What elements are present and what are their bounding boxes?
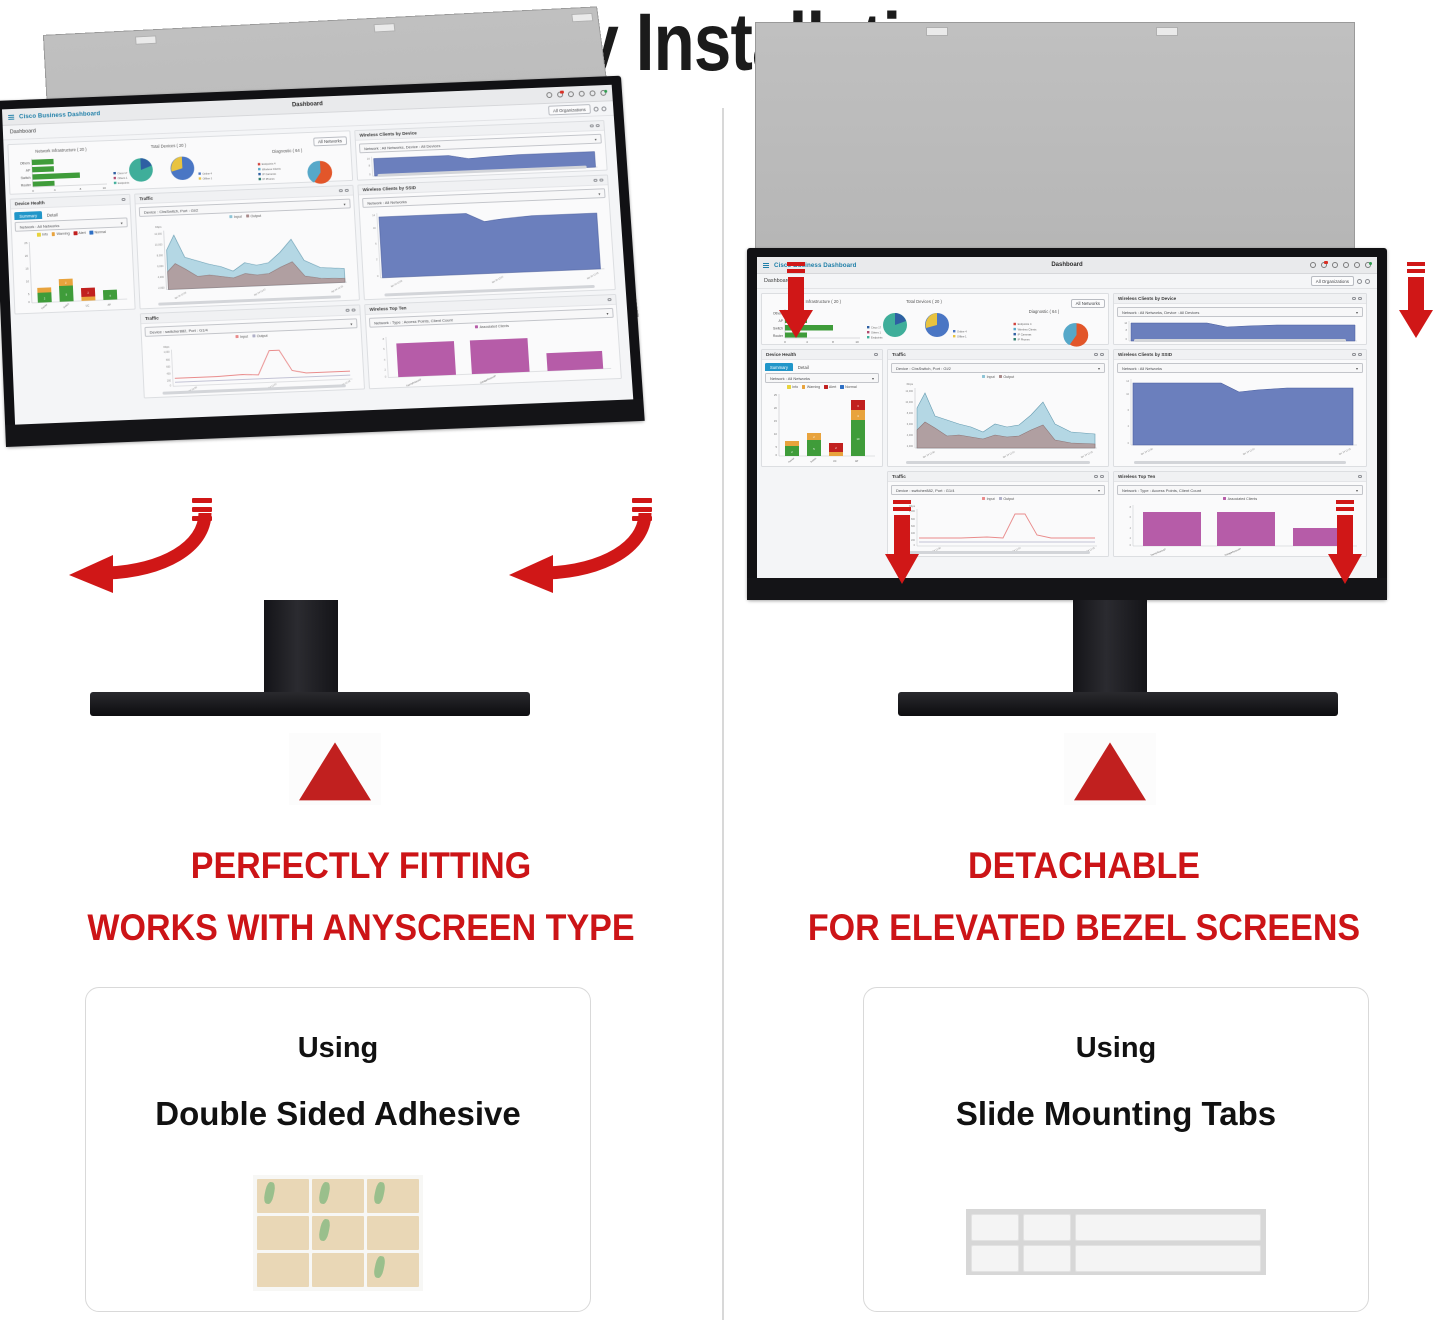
right-panel: Cisco Business Dashboard Dashboard Da (723, 0, 1445, 1320)
svg-text:2: 2 (376, 258, 378, 261)
monitor-right: Cisco Business Dashboard Dashboard Da (747, 248, 1387, 600)
svg-text:IP Cameras: IP Cameras (1018, 333, 1032, 337)
download-icon[interactable] (568, 91, 574, 97)
expand-icon[interactable] (1100, 475, 1104, 479)
svg-text:Online 4: Online 4 (202, 171, 212, 175)
monitor-left: Cisco Business Dashboard Dashboard (0, 76, 645, 447)
svg-text:4: 4 (806, 340, 808, 344)
filter-label: Device : switcher882, Port : G1/4 (150, 327, 208, 334)
svg-text:GarageRoomAP: GarageRoomAP (480, 375, 497, 385)
slide-arrow-bottom-right (1324, 500, 1366, 586)
adhesive-pad (367, 1179, 419, 1213)
network-filter-dropdown[interactable]: All Networks (1071, 299, 1105, 308)
refresh-icon[interactable] (346, 308, 350, 312)
refresh-icon[interactable] (601, 106, 606, 111)
cisco-dashboard: Cisco Business Dashboard Dashboard Da (757, 257, 1377, 578)
refresh-icon[interactable] (594, 179, 598, 183)
right-info-box: Using Slide Mounting Tabs (863, 987, 1369, 1312)
svg-text:0: 0 (369, 173, 371, 176)
svg-text:20: 20 (774, 406, 778, 410)
svg-text:Apr 24 12:00: Apr 24 12:00 (922, 450, 936, 459)
svg-text:Switch: Switch (21, 176, 31, 180)
svg-text:14: 14 (367, 158, 370, 161)
svg-text:IP Phones: IP Phones (263, 177, 276, 181)
expand-icon[interactable] (1358, 353, 1362, 357)
card-traffic: Traffic Device : CbsSwitch, Port : GI/2 … (887, 349, 1109, 467)
monitor-stand-neck (264, 600, 338, 696)
card-traffic: Traffic Device : CbsSwitch, Port : GI/2 … (134, 185, 360, 310)
install-arrow-left-second-dashes (632, 498, 652, 521)
svg-text:0: 0 (170, 384, 172, 387)
card-tools[interactable] (608, 298, 612, 302)
svg-text:10,000: 10,000 (905, 401, 913, 404)
svg-text:Router: Router (788, 457, 796, 464)
expand-icon[interactable] (1100, 353, 1104, 357)
svg-text:0: 0 (377, 275, 379, 278)
horizontal-scrollbar[interactable] (906, 551, 1091, 554)
chevron-down-icon[interactable]: ▾ (1098, 488, 1100, 493)
monitor-stand-neck (1073, 600, 1147, 696)
sheet-notch (571, 13, 593, 22)
card-title: Wireless Top Ten (369, 305, 406, 311)
chat-icon[interactable] (1343, 262, 1349, 268)
card-tools[interactable] (1094, 353, 1104, 357)
expand-icon[interactable] (608, 298, 612, 302)
slide-arrow-top-left (775, 262, 817, 340)
chevron-down-icon[interactable]: ▾ (598, 191, 600, 196)
filter-label: Network : All Networks (770, 376, 810, 381)
card-tools[interactable] (874, 353, 878, 357)
card-tools[interactable] (1352, 297, 1362, 301)
traffic-area-chart: Kbps 12,000 10,000 8,000 6,000 4,000 2,0… (891, 380, 1105, 464)
device-health-legend: Info Warning Alert Normal (765, 385, 879, 389)
user-account-icon[interactable] (1365, 262, 1371, 268)
expand-icon[interactable] (596, 124, 600, 128)
card-title: Wireless Clients by SSID (362, 185, 416, 192)
traffic-area-chart: Kbps 12,000 10,000 8,000 6,000 4,000 2,0… (140, 215, 356, 306)
card-wireless-clients-by-device: Wireless Clients by Device Network : All… (1113, 293, 1367, 345)
svg-text:0: 0 (28, 300, 30, 304)
svg-text:8: 8 (1130, 506, 1132, 509)
direction-marker-card-left (289, 733, 381, 805)
svg-text:IP Phones: IP Phones (1018, 338, 1031, 342)
device-health-stacked-bar-chart: 25 20 15 10 5 0 2 (765, 390, 879, 468)
diagnostic-label: Diagnostic ( 64 ) (983, 309, 1105, 314)
mounting-tab (1023, 1245, 1071, 1272)
card-title: Device Health (766, 352, 796, 357)
cisco-dashboard: Cisco Business Dashboard Dashboard (2, 85, 633, 425)
card-tools[interactable] (590, 124, 600, 128)
svg-text:Apr 24 12:07: Apr 24 12:07 (1002, 450, 1016, 459)
svg-text:6: 6 (1130, 516, 1132, 519)
adhesive-pad (257, 1216, 309, 1250)
device-health-stacked-bar-chart: 25 20 15 10 5 0 2 (15, 234, 131, 315)
svg-text:0: 0 (1128, 442, 1130, 445)
svg-text:4,000: 4,000 (158, 276, 165, 279)
svg-text:0: 0 (775, 453, 777, 457)
card-tools[interactable] (346, 308, 356, 312)
svg-text:25: 25 (24, 241, 28, 245)
device-health-tabs[interactable]: Summary Detail (765, 363, 879, 371)
mounting-tab (971, 1245, 1019, 1272)
traffic-lower-filter-dropdown[interactable]: Device : switcher882, Port : G1/4 ▾ (891, 485, 1105, 495)
svg-text:Offline 1: Offline 1 (957, 334, 967, 338)
slide-arrow-bottom-left (881, 500, 923, 586)
svg-text:Wireless Clients: Wireless Clients (1018, 328, 1038, 332)
svg-text:12,000: 12,000 (905, 390, 913, 393)
org-dropdown[interactable]: All Organizations (1311, 276, 1354, 285)
filter-label: Device : CbsSwitch, Port : GI/2 (896, 366, 951, 371)
chevron-down-icon[interactable]: ▾ (1098, 366, 1100, 371)
hamburger-menu-icon[interactable] (8, 114, 14, 120)
svg-text:Endpoints: Endpoints (871, 335, 883, 339)
svg-text:6: 6 (375, 243, 377, 246)
traffic-lower-line-chart: Kbps 1,000 800 600 400 200 0 (891, 502, 1105, 558)
refresh-icon[interactable] (339, 189, 343, 193)
svg-text:UC: UC (86, 305, 90, 308)
card-wireless-top-ten: Wireless Top Ten Network : Type : Access… (364, 294, 622, 389)
chevron-down-icon[interactable]: ▾ (1356, 488, 1358, 493)
wireless-top-ten-bar-chart: 8 6 4 2 0 FarmyRoomAP GarageRoomAP (370, 325, 618, 392)
svg-text:0: 0 (784, 340, 786, 344)
expand-icon[interactable] (874, 353, 878, 357)
total-devices-pie-charts: Cisco 17 Others 1 Endpoints Online 4 Off… (865, 305, 983, 347)
monitor-bezel-chin (747, 578, 1387, 600)
svg-text:0: 0 (1130, 544, 1132, 547)
help-icon[interactable] (1354, 262, 1360, 268)
svg-text:10: 10 (26, 280, 30, 284)
card-title: Traffic (892, 352, 906, 357)
download-icon[interactable] (1332, 262, 1338, 268)
svg-text:Router: Router (41, 303, 49, 310)
svg-text:Apr 24 12:15: Apr 24 12:15 (331, 285, 345, 294)
right-heading-line-2: FOR ELEVATED BEZEL SCREENS (752, 907, 1416, 949)
svg-text:4: 4 (384, 359, 386, 362)
total-devices-pie-charts: Cisco 17 Others 1 Endpoints Online 4 Off… (110, 147, 228, 193)
svg-text:14: 14 (372, 214, 376, 217)
svg-text:5: 5 (775, 445, 777, 449)
dashboard-grid: Network Infrastructure ( 20 ) Other (761, 293, 1373, 575)
svg-text:Apr 24 12:07: Apr 24 12:07 (253, 288, 267, 297)
network-filter-dropdown[interactable]: All Networks (313, 136, 347, 146)
svg-text:2: 2 (1130, 537, 1132, 540)
sheet-notch (926, 27, 948, 36)
svg-text:Apr 24 12:15: Apr 24 12:15 (1080, 450, 1094, 459)
left-heading-line-2: WORKS WITH ANYSCREEN TYPE (29, 907, 693, 949)
ssid-filter-dropdown[interactable]: Network : All Networks ▾ (1117, 363, 1363, 373)
monitor-stand-base (898, 692, 1338, 716)
card-tools[interactable] (1352, 353, 1362, 357)
svg-text:Apr 24 12:15: Apr 24 12:15 (586, 271, 599, 280)
svg-text:Others 1: Others 1 (871, 330, 882, 334)
svg-text:15: 15 (25, 267, 29, 271)
device-filter-dropdown[interactable]: Network : All Networks, Device : All Dev… (1117, 307, 1363, 317)
svg-text:4: 4 (1130, 527, 1132, 530)
svg-text:10: 10 (1126, 393, 1129, 396)
sheet-notch (374, 23, 396, 32)
card-tools[interactable] (1358, 475, 1362, 479)
right-info-subtitle: Slide Mounting Tabs (864, 1095, 1368, 1133)
filter-label: Network : Type : Access Points, Client C… (1122, 488, 1201, 493)
svg-text:0: 0 (1126, 338, 1128, 341)
adhesive-pad (257, 1179, 309, 1213)
refresh-icon[interactable] (1352, 353, 1356, 357)
svg-text:20: 20 (25, 254, 29, 258)
svg-text:6,000: 6,000 (157, 265, 164, 268)
globe-icon[interactable] (546, 92, 552, 98)
org-selector-group[interactable]: All Organizations (548, 104, 607, 115)
card-title: Wireless Clients by Device (1118, 296, 1176, 301)
svg-text:8: 8 (1126, 329, 1128, 332)
notifications-icon[interactable] (557, 92, 563, 98)
refresh-icon[interactable] (590, 124, 594, 128)
card-title: Device Health (15, 200, 45, 206)
svg-text:FarmyRoomAP: FarmyRoomAP (406, 378, 422, 388)
mounting-tab (1023, 1214, 1071, 1241)
sheet-notch (1156, 27, 1178, 36)
right-heading-line-1: DETACHABLE (752, 845, 1416, 887)
svg-text:8: 8 (369, 165, 371, 168)
svg-text:6: 6 (1128, 409, 1130, 412)
wireless-clients-ssid-area-chart: 14 10 6 2 0 Apr 24 12:00 Apr 24 12:07 Ap… (363, 200, 612, 296)
svg-text:10: 10 (855, 340, 859, 344)
svg-text:Switch: Switch (810, 457, 818, 464)
svg-text:Endpoints 4: Endpoints 4 (1018, 323, 1032, 327)
card-traffic-lower: Traffic Device : switcher882, Port : G1/… (140, 304, 365, 398)
traffic-legend: Input Output (891, 375, 1105, 379)
filter-label: Network : All Networks (20, 223, 60, 230)
help-icon[interactable] (589, 90, 595, 96)
expand-icon[interactable] (345, 189, 349, 193)
notifications-icon[interactable] (1321, 262, 1327, 268)
svg-text:400: 400 (167, 372, 172, 375)
card-device-health: Device Health Summary Detail Network : A… (761, 349, 883, 467)
horizontal-scrollbar[interactable] (1134, 339, 1346, 342)
svg-text:10: 10 (102, 186, 106, 190)
adhesive-pad (367, 1216, 419, 1250)
filter-label: Network : All Networks (1122, 366, 1162, 371)
adhesive-pad (312, 1216, 364, 1250)
svg-text:Others 1: Others 1 (118, 176, 129, 180)
svg-text:4,000: 4,000 (907, 434, 914, 437)
svg-text:Switch: Switch (63, 302, 71, 309)
adhesive-pad (312, 1253, 364, 1287)
svg-text:600: 600 (166, 366, 171, 369)
svg-text:AP: AP (855, 460, 859, 463)
tab-summary[interactable]: Summary (14, 211, 42, 220)
wireless-clients-ssid-area-chart: 14 10 6 2 0 Apr 24 12:00 Apr 24 12:07 Ap… (1117, 375, 1363, 463)
mounting-tab (1075, 1214, 1261, 1241)
svg-text:Wireless Clients: Wireless Clients (262, 167, 282, 172)
card-tools[interactable] (594, 178, 604, 182)
svg-text:4: 4 (54, 188, 56, 192)
svg-text:2: 2 (1128, 425, 1130, 428)
refresh-icon[interactable] (1094, 475, 1098, 479)
left-info-subtitle: Double Sided Adhesive (86, 1095, 590, 1133)
svg-text:10: 10 (373, 227, 377, 230)
tab-row (971, 1245, 1261, 1272)
svg-text:Kbps: Kbps (163, 345, 170, 349)
settings-icon[interactable] (593, 106, 598, 111)
card-title: Traffic (139, 196, 153, 201)
traffic-filter-dropdown[interactable]: Device : CbsSwitch, Port : GI/2 ▾ (891, 363, 1105, 373)
expand-icon[interactable] (1358, 297, 1362, 301)
network-infrastructure-bar-chart: Others AP Switch Router 0 4 8 10 (12, 152, 113, 197)
svg-text:14: 14 (1124, 322, 1127, 325)
hamburger-menu-icon[interactable] (763, 262, 769, 268)
topbar-icon-group (1310, 262, 1371, 268)
left-heading-line-1: PERFECTLY FITTING (29, 845, 693, 887)
svg-text:Apr 24 12:00: Apr 24 12:00 (390, 279, 404, 288)
left-info-box: Using Double Sided Adhesive (85, 987, 591, 1312)
slide-arrow-top-right (1395, 262, 1437, 340)
expand-icon[interactable] (1358, 475, 1362, 479)
svg-text:15: 15 (774, 419, 778, 423)
chevron-down-icon[interactable]: ▾ (594, 136, 596, 141)
svg-text:25: 25 (774, 393, 778, 397)
direction-marker-card-right (1064, 733, 1156, 805)
filter-label: Device : CbsSwitch, Port : GI/2 (144, 207, 199, 214)
svg-text:0: 0 (32, 189, 34, 193)
svg-text:Apr 24 12:00: Apr 24 12:00 (174, 291, 188, 300)
svg-text:Cisco 17: Cisco 17 (871, 325, 882, 329)
svg-text:800: 800 (166, 359, 171, 362)
svg-text:Others: Others (20, 161, 31, 165)
filter-label: Network : Type : Access Points, Client C… (374, 317, 453, 325)
svg-text:Kbps: Kbps (155, 225, 162, 229)
tab-summary[interactable]: Summary (765, 363, 793, 371)
org-selector-group[interactable]: All Organizations (1311, 276, 1370, 285)
card-tools[interactable] (339, 189, 349, 193)
tab-detail[interactable]: Detail (793, 363, 814, 371)
sheet-notch (135, 35, 157, 44)
svg-text:Offline 1: Offline 1 (203, 176, 213, 180)
svg-text:6,000: 6,000 (907, 423, 914, 426)
breadcrumb-bar: Dashboard All Organizations (757, 274, 1377, 289)
mounting-tab (1075, 1245, 1261, 1272)
left-panel: Cisco Business Dashboard Dashboard (0, 0, 722, 1320)
user-account-icon[interactable] (600, 90, 606, 96)
horizontal-scrollbar[interactable] (1134, 461, 1346, 464)
card-overview: Network Infrastructure ( 20 ) Other (7, 130, 353, 195)
filter-label: Network : All Networks, Device : All Dev… (364, 143, 441, 151)
card-title: Traffic (892, 474, 906, 479)
org-dropdown[interactable]: All Organizations (548, 104, 591, 115)
expand-icon[interactable] (600, 178, 604, 182)
slide-mounting-tabs-image (966, 1209, 1266, 1275)
mounting-tab (971, 1214, 1019, 1241)
svg-text:UC: UC (833, 460, 837, 463)
svg-text:Apr 24 12:07: Apr 24 12:07 (1242, 447, 1256, 456)
globe-icon[interactable] (1310, 262, 1316, 268)
total-devices-label: Total Devices ( 20 ) (865, 299, 983, 304)
monitor-screen: Cisco Business Dashboard Dashboard (2, 85, 633, 425)
svg-text:10,000: 10,000 (155, 243, 163, 246)
chevron-down-icon[interactable]: ▾ (1356, 310, 1358, 315)
svg-text:AP: AP (26, 169, 31, 173)
svg-text:8,000: 8,000 (907, 412, 914, 415)
refresh-icon[interactable] (1365, 279, 1370, 284)
refresh-icon[interactable] (1352, 297, 1356, 301)
chevron-down-icon[interactable]: ▾ (121, 220, 123, 225)
breadcrumb: Dashboard (10, 128, 36, 135)
svg-text:Kbps: Kbps (907, 382, 914, 386)
chevron-down-icon[interactable]: ▾ (350, 321, 352, 326)
svg-text:GarageRoomAP: GarageRoomAP (1224, 547, 1242, 557)
topbar-icon-group (546, 90, 606, 98)
svg-text:Cisco 17: Cisco 17 (117, 171, 128, 175)
svg-text:8: 8 (80, 187, 82, 191)
install-arrow-left-dashes (192, 498, 212, 521)
card-tools[interactable] (122, 198, 126, 202)
svg-text:Apr 24 12:07: Apr 24 12:07 (491, 275, 504, 284)
chevron-down-icon[interactable]: ▾ (1356, 366, 1358, 371)
svg-text:2: 2 (384, 369, 386, 372)
infographic-page: Easy Installation Cisco Business Dashboa… (0, 0, 1445, 1320)
svg-text:Router: Router (21, 183, 32, 187)
card-device-health: Device Health Summary Detail Network : A… (10, 194, 136, 315)
svg-text:8,000: 8,000 (157, 254, 164, 257)
traffic-lower-legend: Input Output (891, 497, 1105, 501)
network-filter-dropdown[interactable]: Network : All Networks ▾ (765, 373, 879, 383)
card-title: Wireless Top Ten (1118, 474, 1155, 479)
chevron-down-icon[interactable]: ▾ (872, 376, 874, 381)
monitor-screen: Cisco Business Dashboard Dashboard Da (757, 257, 1377, 578)
horizontal-scrollbar[interactable] (906, 461, 1091, 464)
svg-text:5: 5 (28, 292, 30, 296)
chat-icon[interactable] (579, 91, 585, 97)
up-triangle-icon (299, 742, 371, 800)
svg-text:FarmyRoomAP: FarmyRoomAP (1150, 548, 1167, 557)
brand-label: Cisco Business Dashboard (19, 110, 101, 120)
chevron-down-icon[interactable]: ▾ (606, 311, 608, 316)
filter-label: Network : All Networks, Device : All Dev… (1122, 310, 1199, 315)
tab-detail[interactable]: Detail (42, 210, 63, 219)
svg-text:Apr 24 12:00: Apr 24 12:00 (1140, 447, 1154, 456)
monitor-stand-base (90, 692, 530, 716)
svg-text:2,000: 2,000 (907, 445, 914, 448)
card-wireless-clients-by-ssid: Wireless Clients by SSID Network : All N… (1113, 349, 1367, 467)
top-ten-filter-dropdown[interactable]: Network : Type : Access Points, Client C… (1117, 485, 1363, 495)
chevron-down-icon[interactable]: ▾ (343, 201, 345, 206)
filter-label: Network : All Networks (367, 199, 407, 205)
adhesive-pad (312, 1179, 364, 1213)
svg-text:6: 6 (383, 348, 385, 351)
svg-text:Apr 24 12:15: Apr 24 12:15 (1338, 447, 1352, 456)
right-info-title: Using (864, 1032, 1368, 1065)
svg-text:IP Cameras: IP Cameras (262, 172, 277, 177)
svg-text:10: 10 (774, 432, 778, 436)
dashboard-topbar: Cisco Business Dashboard Dashboard (757, 257, 1377, 274)
svg-text:8: 8 (383, 338, 385, 341)
filter-label: Device : switcher882, Port : G1/4 (896, 488, 954, 493)
card-title: Wireless Clients by SSID (1118, 352, 1172, 357)
adhesive-pad (257, 1253, 309, 1287)
adhesive-pad (367, 1253, 419, 1287)
refresh-icon[interactable] (1094, 353, 1098, 357)
dashboard-grid: Network Infrastructure ( 20 ) Other (7, 120, 629, 422)
adhesive-pads-image (253, 1175, 423, 1291)
expand-icon[interactable] (122, 198, 126, 202)
svg-text:1,000: 1,000 (164, 351, 171, 354)
expand-icon[interactable] (352, 308, 356, 312)
svg-text:2,000: 2,000 (158, 287, 165, 290)
settings-icon[interactable] (1357, 279, 1362, 284)
card-tools[interactable] (1094, 475, 1104, 479)
svg-text:Online 4: Online 4 (957, 329, 967, 333)
left-info-title: Using (86, 1032, 590, 1065)
svg-text:0: 0 (385, 376, 387, 379)
